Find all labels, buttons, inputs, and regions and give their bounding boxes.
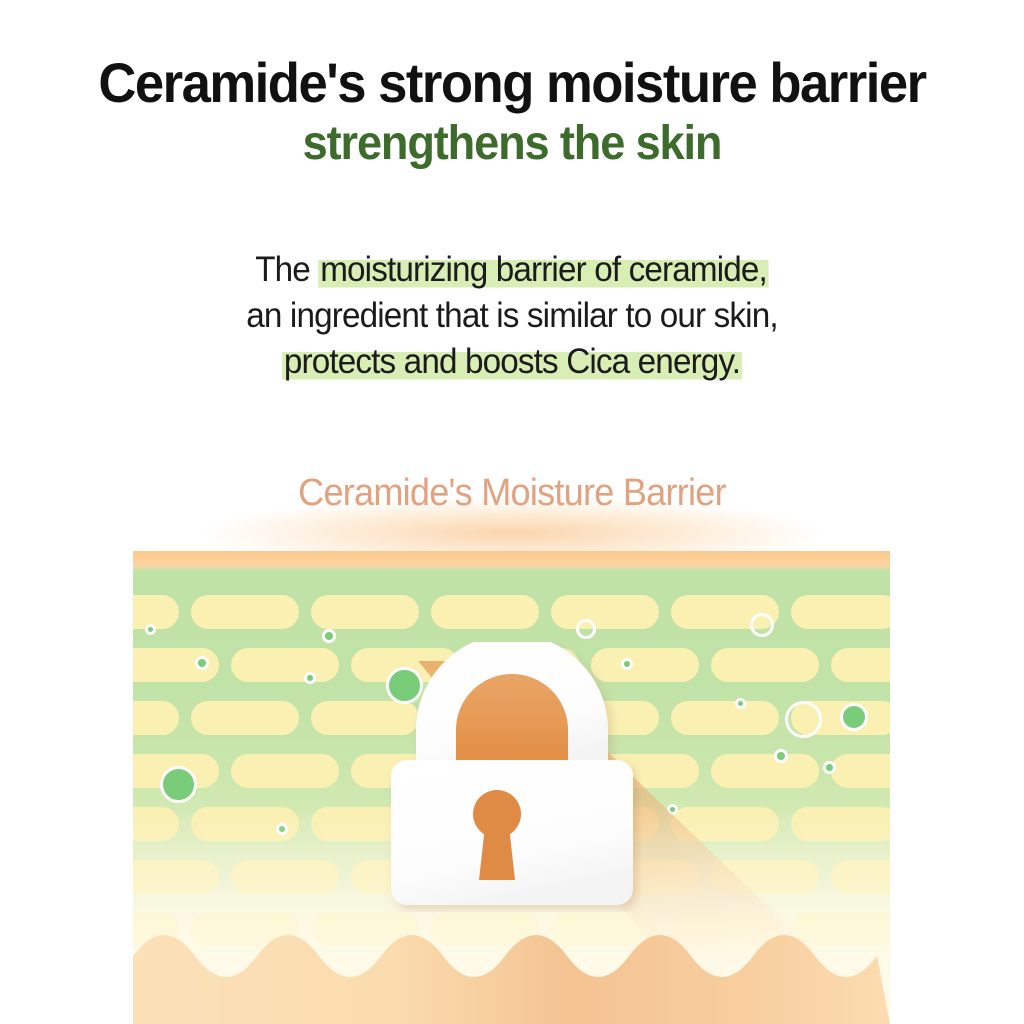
- moisture-dot: [750, 613, 774, 637]
- moisture-dot: [785, 701, 822, 738]
- ceramide-brick: [791, 595, 890, 629]
- ceramide-brick: [231, 754, 339, 788]
- ceramide-brick: [671, 701, 779, 735]
- moisture-dot: [823, 761, 836, 774]
- body-paragraph: The moisturizing barrier of ceramide, an…: [0, 247, 1024, 385]
- moisture-dot: [160, 766, 197, 803]
- ceramide-brick: [191, 701, 299, 735]
- moisture-dot: [195, 656, 209, 670]
- body-line-2: an ingredient that is similar to our ski…: [26, 293, 999, 339]
- moisture-dot: [145, 624, 156, 635]
- ceramide-brick: [551, 595, 659, 629]
- body-line-1: The moisturizing barrier of ceramide,: [26, 247, 999, 293]
- ceramide-brick: [133, 860, 219, 894]
- ceramide-brick: [791, 807, 890, 841]
- ceramide-brick: [831, 754, 890, 788]
- body-line-1-highlight: moisturizing barrier of ceramide,: [318, 250, 768, 289]
- headline-secondary: strengthens the skin: [31, 116, 994, 172]
- ceramide-brick: [711, 860, 819, 894]
- headline-primary: Ceramide's strong moisture barrier: [31, 52, 994, 114]
- ceramide-brick: [711, 754, 819, 788]
- illustration-title: Ceramide's Moisture Barrier: [26, 470, 999, 516]
- ceramide-brick: [711, 648, 819, 682]
- ceramide-brick: [311, 595, 419, 629]
- padlock-icon: [383, 642, 641, 912]
- ceramide-brick: [831, 648, 890, 682]
- moisture-dot: [304, 672, 316, 684]
- moisture-dot: [576, 619, 596, 639]
- moisture-dot: [774, 749, 788, 763]
- ceramide-brick: [831, 860, 890, 894]
- body-line-1-plain: The: [255, 250, 318, 289]
- lower-dermis-scallop: [133, 904, 890, 1024]
- headline-block: Ceramide's strong moisture barrier stren…: [0, 52, 1024, 172]
- ceramide-brick: [191, 595, 299, 629]
- infographic-page: Ceramide's strong moisture barrier stren…: [0, 0, 1024, 1024]
- ceramide-brick: [671, 807, 779, 841]
- moisture-dot: [735, 698, 746, 709]
- body-line-3-highlight: protects and boosts Cica energy.: [282, 342, 742, 381]
- moisture-dot: [276, 823, 288, 835]
- moisture-dot: [667, 804, 678, 815]
- ceramide-brick: [431, 595, 539, 629]
- body-line-3: protects and boosts Cica energy.: [26, 339, 999, 385]
- ceramide-brick: [133, 595, 179, 629]
- ceramide-brick: [231, 860, 339, 894]
- moisture-dot: [840, 703, 868, 731]
- ceramide-brick: [133, 701, 179, 735]
- ceramide-brick: [231, 648, 339, 682]
- ceramide-brick: [133, 807, 179, 841]
- moisture-dot: [322, 629, 336, 643]
